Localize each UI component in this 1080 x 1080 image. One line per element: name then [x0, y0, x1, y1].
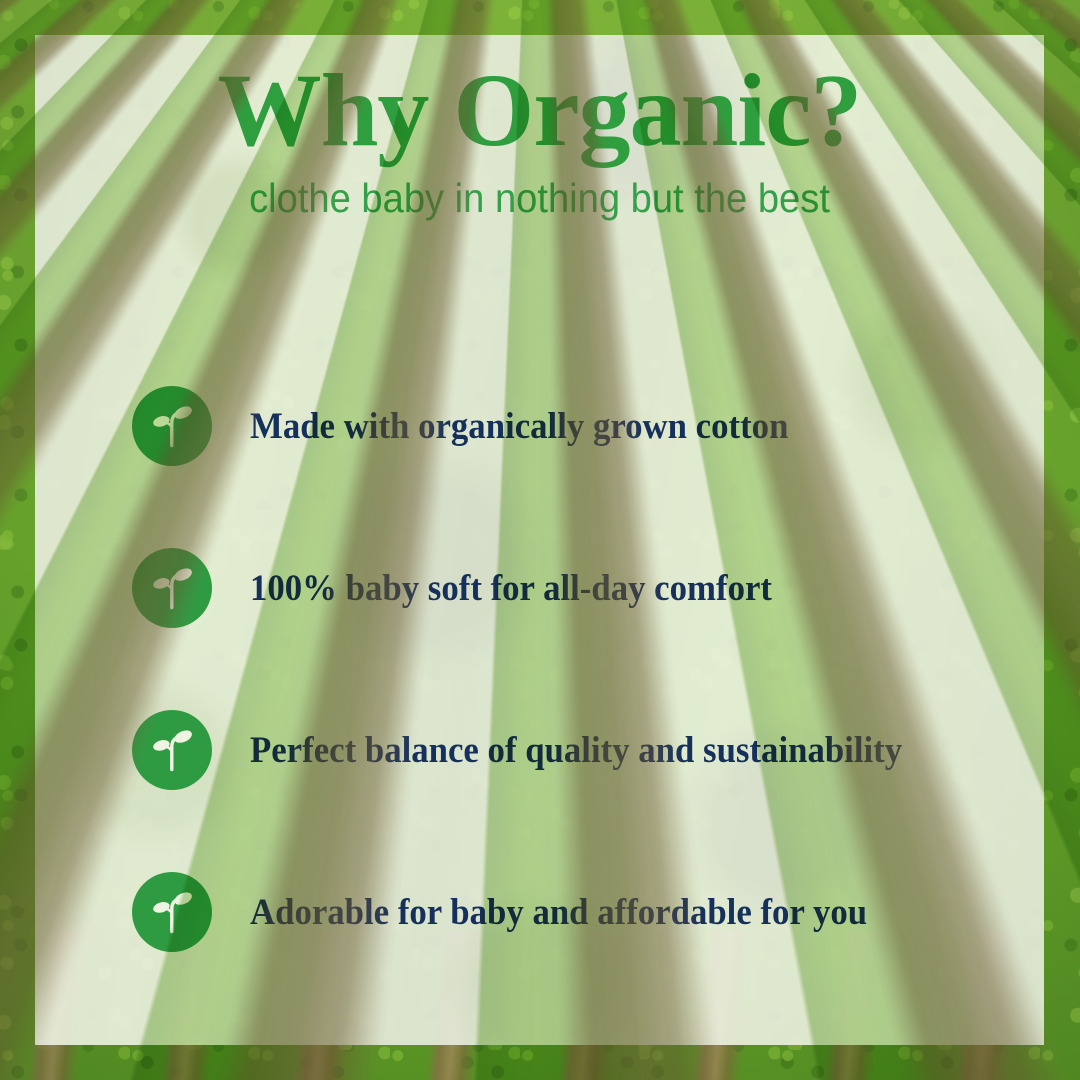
list-item-label: Adorable for baby and affordable for you [250, 891, 867, 934]
sprout-icon [132, 386, 212, 466]
list-item: Perfect balance of quality and sustainab… [132, 669, 992, 831]
header: Why Organic? clothe baby in nothing but … [35, 35, 1044, 222]
list-item: 100% baby soft for all-day comfort [132, 507, 992, 669]
sprout-icon [132, 710, 212, 790]
page-title: Why Organic? [35, 53, 1044, 169]
list-item-label: Made with organically grown cotton [250, 405, 788, 448]
list-item-label: Perfect balance of quality and sustainab… [250, 729, 902, 772]
sprout-icon [132, 548, 212, 628]
content-panel: Why Organic? clothe baby in nothing but … [35, 35, 1044, 1045]
list-item: Made with organically grown cotton [132, 345, 992, 507]
list-item: Adorable for baby and affordable for you [132, 831, 992, 993]
benefits-list: Made with organically grown cotton 100% … [132, 345, 992, 993]
sprout-icon [132, 872, 212, 952]
list-item-label: 100% baby soft for all-day comfort [250, 567, 772, 610]
poster-canvas: Why Organic? clothe baby in nothing but … [0, 0, 1080, 1080]
page-subtitle: clothe baby in nothing but the best [70, 175, 1008, 222]
